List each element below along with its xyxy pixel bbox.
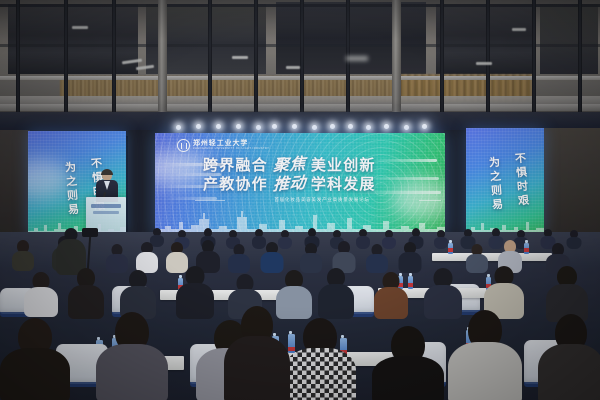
calligraphy-char: 之 — [488, 169, 502, 183]
audience-member-foreground — [96, 312, 168, 400]
audience-member — [176, 266, 214, 318]
stage-spotlight — [292, 124, 297, 129]
stage-spotlight — [256, 125, 261, 130]
video-camera-icon — [82, 228, 98, 237]
stage-spotlight — [312, 125, 317, 130]
audience-member — [374, 272, 408, 318]
conference-hall-photo: 不 惧 时 艰 为 之 则 易 郑州轻工业大学 ZHEN — [0, 0, 600, 400]
audience-member — [136, 242, 158, 272]
calligraphy-char: 艰 — [516, 193, 530, 207]
wall-gap — [444, 130, 468, 238]
calligraphy-char: 为 — [63, 160, 77, 174]
audience-member — [68, 268, 104, 318]
torso — [366, 254, 388, 273]
torso — [372, 356, 444, 400]
torso — [228, 254, 250, 273]
audience-member-foreground — [448, 310, 522, 400]
torso — [448, 342, 522, 400]
audience-member-foreground — [0, 318, 70, 400]
calligraphy-char: 之 — [64, 174, 78, 188]
stage-spotlight — [196, 124, 201, 129]
event-subtitle: 首届化妆品美容美发产业高质量发展论坛 — [227, 197, 417, 203]
side-wall-left — [0, 130, 30, 245]
stage-spotlight — [404, 125, 409, 130]
calligraphy-char: 时 — [515, 179, 529, 193]
audience-member-foreground — [372, 326, 444, 400]
torso — [12, 251, 34, 271]
audience-member — [546, 266, 588, 320]
calligraphy-char: 则 — [489, 183, 503, 197]
speaker-at-podium — [96, 170, 118, 200]
audience-member — [318, 268, 354, 318]
stage-spotlight — [272, 124, 277, 129]
bottle-label — [524, 248, 529, 252]
audience-member — [228, 244, 250, 272]
main-led-screen: 郑州轻工业大学 ZHENGZHOU UNIVERSITY OF LIGHT IN… — [155, 133, 445, 235]
headline-line-2: 产教协作 推动 学科发展 — [203, 176, 443, 192]
audience-member-foreground — [224, 306, 290, 400]
audience-member — [120, 270, 156, 318]
torso — [0, 348, 70, 400]
calligraphy-char: 不 — [89, 156, 103, 170]
bottle-label — [408, 283, 413, 287]
calligraphy-char: 惧 — [514, 165, 528, 179]
headline-rest-text: 美业创新 — [311, 158, 376, 173]
wall-gap — [128, 130, 156, 238]
calligraphy-char: 易 — [490, 197, 504, 211]
torso — [538, 344, 600, 400]
torso — [434, 237, 448, 249]
audience-member — [398, 242, 421, 272]
university-name-en: ZHENGZHOU UNIVERSITY OF LIGHT INDUSTRY — [193, 148, 269, 151]
stage-spotlight — [236, 124, 241, 129]
audience-member-foreground — [284, 318, 356, 400]
torso — [398, 252, 421, 273]
stage-spotlight — [366, 125, 371, 130]
torso — [96, 344, 168, 400]
calligraphy-char: 易 — [66, 202, 80, 216]
podium-nameplate — [91, 204, 121, 208]
calligraphy-char: 为 — [487, 155, 501, 169]
headline-block-text: 跨界融合 — [203, 158, 268, 173]
calligraphy-char: 不 — [513, 151, 527, 165]
stage-spotlight — [216, 124, 221, 129]
torso — [284, 348, 356, 400]
audience-member — [24, 272, 58, 316]
bottle-label — [448, 248, 453, 252]
audience-table — [432, 253, 552, 261]
stage-spotlight — [348, 124, 353, 129]
water-bottle — [524, 243, 529, 254]
stage-spotlight — [330, 124, 335, 129]
audience-member — [366, 244, 388, 272]
torso — [318, 284, 354, 319]
torso — [224, 336, 290, 400]
headline-brush-text: 推动 — [272, 175, 306, 193]
audience-member — [12, 240, 34, 270]
event-headline: 跨界融合 聚焦 美业创新 产教协作 推动 学科发展 — [203, 157, 443, 195]
audience-member-foreground — [538, 314, 600, 400]
torso — [176, 283, 214, 319]
speaker-hair — [101, 169, 113, 175]
torso — [374, 287, 408, 319]
headline-block-text: 产教协作 — [203, 177, 268, 192]
subtitle-rule-left — [195, 200, 225, 201]
torso — [24, 287, 58, 317]
audience-member — [434, 230, 448, 248]
headline-brush-text: 聚焦 — [272, 156, 306, 174]
audience-member — [260, 242, 283, 272]
university-logo: 郑州轻工业大学 ZHENGZHOU UNIVERSITY OF LIGHT IN… — [177, 139, 269, 152]
water-bottle — [448, 243, 453, 254]
headline-rest-text: 学科发展 — [311, 177, 376, 192]
university-emblem-icon — [177, 139, 190, 152]
side-led-screen-right: 不 惧 时 艰 为 之 则 易 — [466, 128, 544, 234]
calligraphy-char: 则 — [65, 188, 79, 202]
subtitle-rule-right — [419, 200, 441, 201]
headline-line-1: 跨界融合 聚焦 美业创新 — [203, 157, 443, 173]
podium-nameplate-sub — [93, 211, 119, 214]
stage-spotlight — [422, 124, 427, 129]
stage-spotlight — [384, 124, 389, 129]
audience-member — [106, 244, 128, 272]
stage-spotlight — [176, 125, 181, 130]
water-bottle — [408, 276, 413, 289]
